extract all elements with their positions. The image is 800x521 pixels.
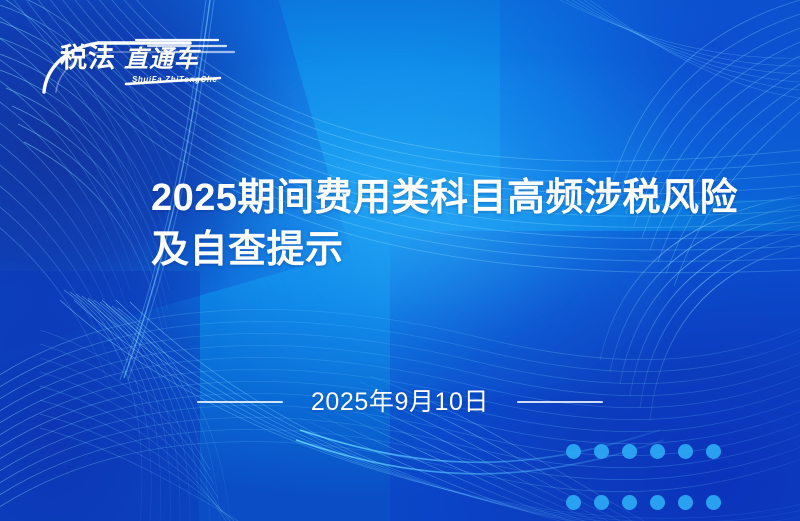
page-title-line-1: 2025期间费用类科目高频涉税风险: [151, 172, 751, 224]
date-rule-right: [517, 401, 603, 403]
dot: [650, 444, 665, 459]
shuifa-zhitongche-logo[interactable]: 税法 直通车 ShuiFa ZhiTongChe: [40, 34, 240, 96]
page-title-line-2: 及自查提示: [151, 224, 751, 276]
dot: [706, 495, 721, 510]
dot: [594, 444, 609, 459]
date-rule-left: [197, 401, 283, 403]
dot: [594, 495, 609, 510]
dot: [566, 495, 581, 510]
dot: [650, 495, 665, 510]
poster-canvas: 税法 直通车 ShuiFa ZhiTongChe 2025期间费用类科目高频涉税…: [0, 0, 800, 521]
dot: [706, 444, 721, 459]
decorative-dot-grid: [566, 444, 734, 521]
dot: [622, 495, 637, 510]
dot: [678, 444, 693, 459]
dot: [566, 444, 581, 459]
page-title: 2025期间费用类科目高频涉税风险 及自查提示: [151, 172, 751, 276]
date-text: 2025年9月10日: [311, 386, 489, 418]
date-row: 2025年9月10日: [0, 386, 800, 418]
logo-main-text: 税法: [60, 43, 116, 73]
dot: [622, 444, 637, 459]
logo-pinyin: ShuiFa ZhiTongChe: [132, 75, 217, 84]
dot: [678, 495, 693, 510]
logo-accent-text: 直通车: [124, 46, 199, 74]
